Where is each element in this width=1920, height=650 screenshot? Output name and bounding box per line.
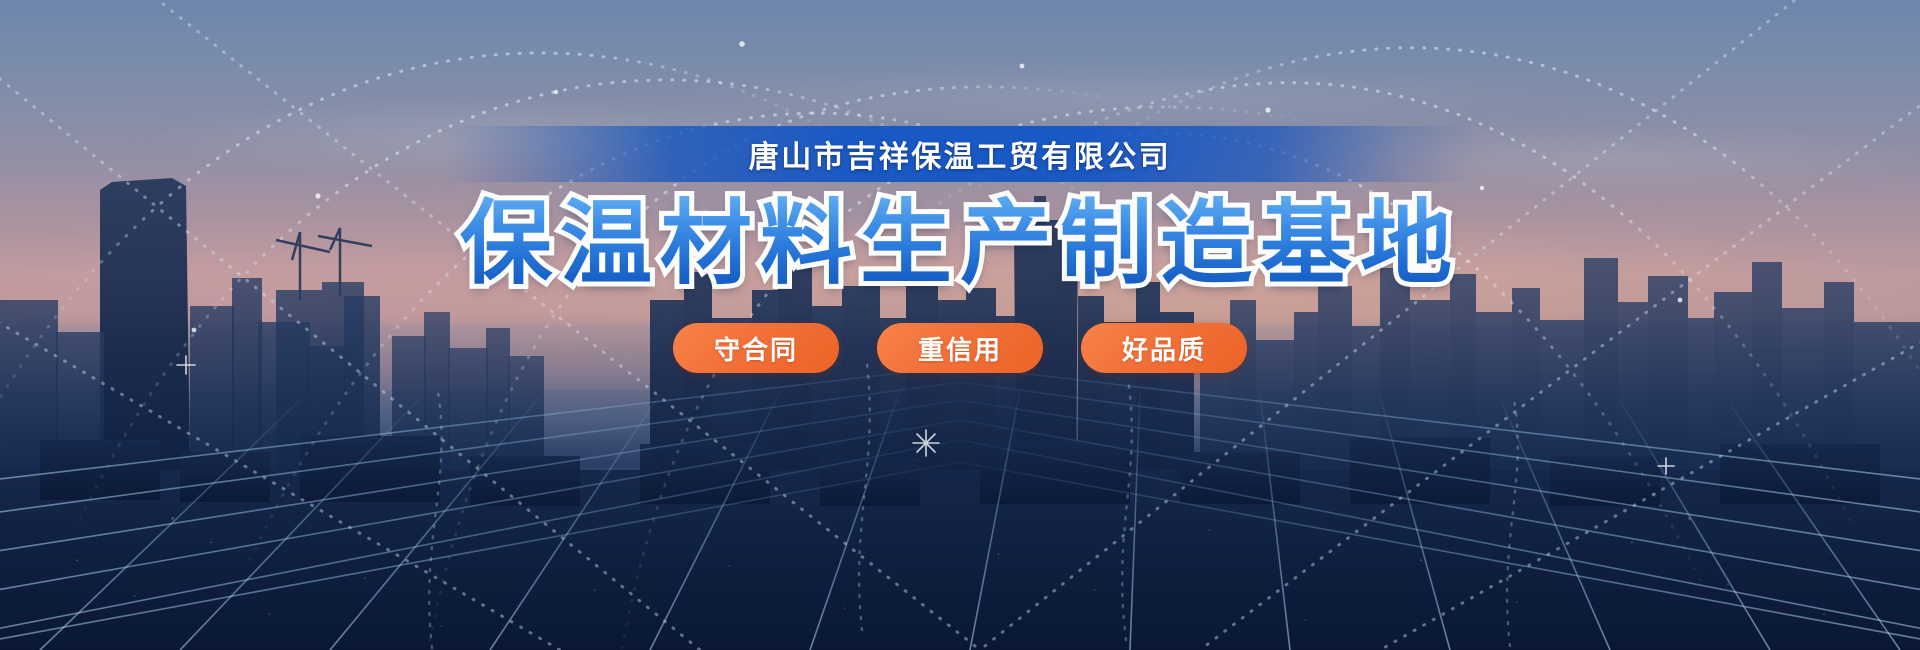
badge-row: 守合同 重信用 好品质 bbox=[673, 323, 1247, 373]
badge-hao-pin-zhi[interactable]: 好品质 bbox=[1081, 323, 1247, 373]
headline-wrapper: 保温材料生产制造基地 保温材料生产制造基地 bbox=[460, 194, 1460, 293]
badge-shou-he-tong[interactable]: 守合同 bbox=[673, 323, 839, 373]
page-title: 保温材料生产制造基地 bbox=[460, 194, 1460, 293]
company-name: 唐山市吉祥保温工贸有限公司 bbox=[749, 132, 1172, 176]
hero-banner: 唐山市吉祥保温工贸有限公司 保温材料生产制造基地 保温材料生产制造基地 守合同 … bbox=[0, 0, 1920, 650]
hero-content: 唐山市吉祥保温工贸有限公司 保温材料生产制造基地 保温材料生产制造基地 守合同 … bbox=[0, 0, 1920, 650]
badge-zhong-xin-yong[interactable]: 重信用 bbox=[877, 323, 1043, 373]
company-name-band: 唐山市吉祥保温工贸有限公司 bbox=[445, 126, 1475, 182]
